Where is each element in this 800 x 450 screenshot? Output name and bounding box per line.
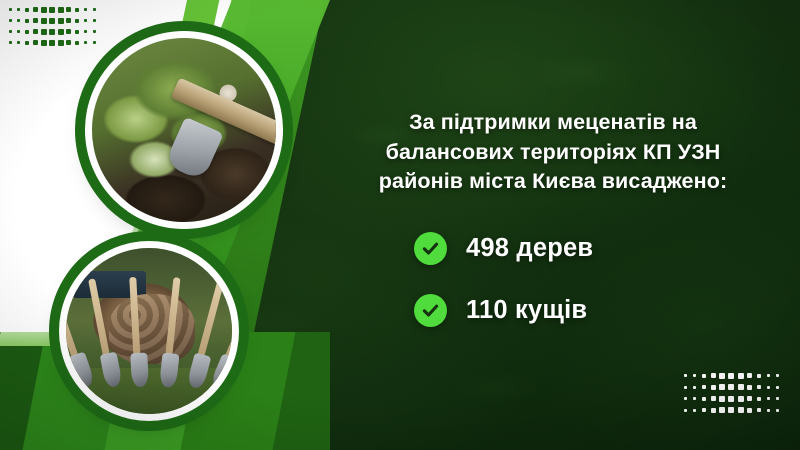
fact-item-shrubs: 110 кущів bbox=[414, 294, 593, 327]
dot bbox=[33, 40, 38, 45]
dot bbox=[33, 29, 38, 34]
dot bbox=[66, 18, 71, 23]
dot bbox=[75, 19, 79, 23]
content-area: За підтримки меценатів на балансових тер… bbox=[352, 0, 800, 450]
fact-item-trees: 498 дерев bbox=[414, 232, 593, 265]
dot bbox=[84, 30, 87, 33]
dot bbox=[9, 8, 12, 11]
dot bbox=[66, 29, 71, 34]
dot bbox=[25, 30, 29, 34]
dot bbox=[41, 40, 47, 46]
dot-grid-top-left-icon bbox=[6, 4, 98, 48]
photo-shovels-rootball bbox=[66, 248, 232, 414]
fact-label-trees: 498 дерев bbox=[466, 234, 593, 263]
dot bbox=[58, 40, 64, 46]
dot bbox=[17, 8, 20, 11]
dot bbox=[41, 7, 47, 13]
dot bbox=[75, 41, 79, 45]
headline-line-2: балансових територіях КП УЗН bbox=[352, 138, 754, 168]
dot bbox=[93, 19, 96, 22]
dot bbox=[41, 18, 47, 24]
check-circle-icon bbox=[414, 294, 447, 327]
dot bbox=[33, 18, 38, 23]
dot bbox=[93, 30, 96, 33]
dot bbox=[66, 7, 71, 12]
dot bbox=[49, 18, 55, 24]
dot bbox=[84, 8, 87, 11]
headline: За підтримки меценатів на балансових тер… bbox=[352, 108, 754, 197]
dot bbox=[9, 30, 12, 33]
dot bbox=[58, 7, 64, 13]
dot bbox=[25, 19, 29, 23]
photo-shovels-rootball-image bbox=[66, 248, 232, 414]
rootball-shape bbox=[109, 294, 195, 364]
dot bbox=[9, 41, 12, 44]
dot bbox=[66, 40, 71, 45]
headline-line-1: За підтримки меценатів на bbox=[352, 108, 754, 138]
dot bbox=[49, 7, 55, 13]
dot bbox=[49, 40, 55, 46]
dot bbox=[17, 19, 20, 22]
photo-planting-shrub-image bbox=[92, 38, 276, 222]
infographic-poster: За підтримки меценатів на балансових тер… bbox=[0, 0, 800, 450]
check-circle-icon bbox=[414, 232, 447, 265]
dot bbox=[49, 29, 55, 35]
fact-label-shrubs: 110 кущів bbox=[466, 296, 587, 325]
dot bbox=[58, 18, 64, 24]
dot bbox=[33, 7, 38, 12]
dot bbox=[84, 41, 87, 44]
dot bbox=[41, 29, 47, 35]
shovel-blade-shape bbox=[164, 116, 224, 181]
facts-list: 498 дерев 110 кущів bbox=[414, 232, 593, 356]
headline-line-3: районів міста Києва висаджено: bbox=[352, 167, 754, 197]
dot bbox=[75, 30, 79, 34]
dot bbox=[25, 41, 29, 45]
dot bbox=[17, 30, 20, 33]
dot bbox=[25, 8, 29, 12]
dot bbox=[75, 8, 79, 12]
photo-planting-shrub bbox=[92, 38, 276, 222]
dot bbox=[93, 8, 96, 11]
dot bbox=[17, 41, 20, 44]
dot bbox=[58, 29, 64, 35]
dot bbox=[84, 19, 87, 22]
dot bbox=[9, 19, 12, 22]
